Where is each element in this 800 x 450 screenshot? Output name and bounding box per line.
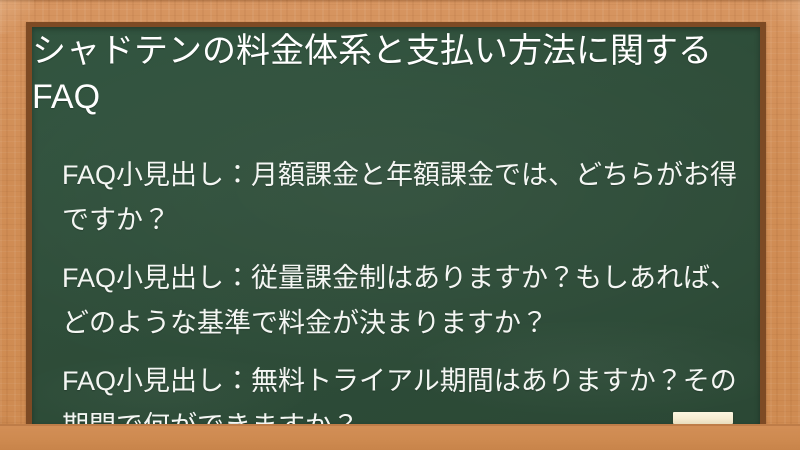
frame-corner-top-right (766, 0, 800, 34)
list-item: FAQ小見出し：従量課金制はありますか？もしあれば、どのような基準で料金が決まり… (62, 256, 742, 346)
page-title: シャドテンの料金体系と支払い方法に関するFAQ (32, 28, 732, 120)
chalkboard-surface: シャドテンの料金体系と支払い方法に関するFAQ FAQ小見出し：月額課金と年額課… (32, 27, 760, 424)
faq-list: FAQ小見出し：月額課金と年額課金では、どちらがお得ですか？ FAQ小見出し：従… (62, 153, 742, 424)
board-content: シャドテンの料金体系と支払い方法に関するFAQ FAQ小見出し：月額課金と年額課… (32, 27, 760, 424)
list-item: FAQ小見出し：月額課金と年額課金では、どちらがお得ですか？ (62, 153, 742, 243)
chalkboard-ledge (0, 424, 800, 450)
chalk-stick-icon (673, 412, 733, 424)
list-item: FAQ小見出し：無料トライアル期間はありますか？その期間で何ができますか？ (62, 359, 742, 424)
chalkboard-slide: シャドテンの料金体系と支払い方法に関するFAQ FAQ小見出し：月額課金と年額課… (0, 0, 800, 450)
